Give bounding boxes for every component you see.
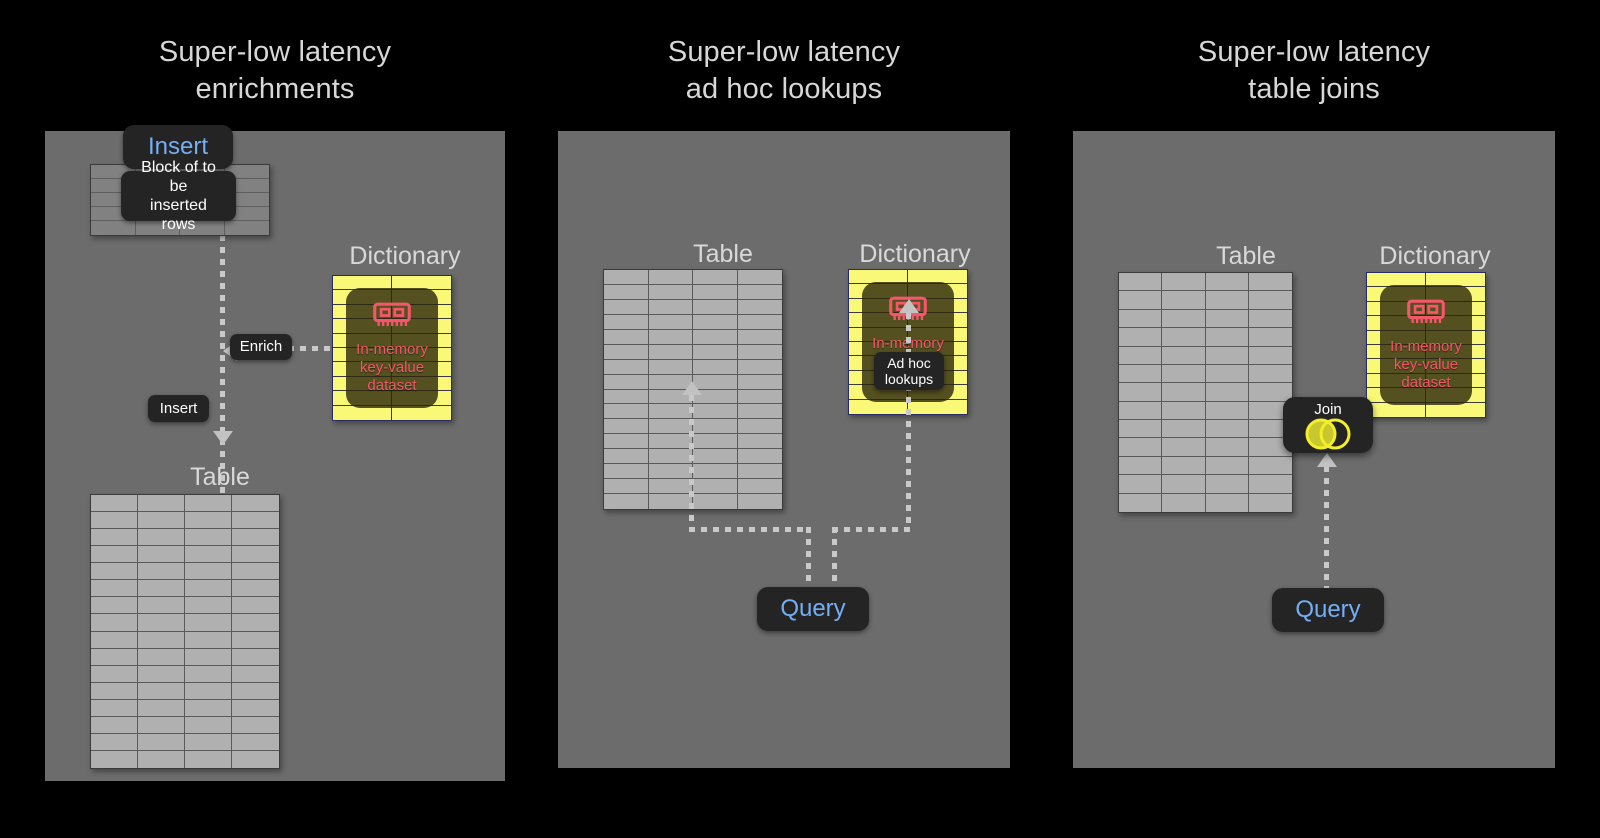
grid-cell bbox=[1119, 438, 1162, 456]
grid-cell bbox=[185, 580, 232, 597]
grid-cell bbox=[185, 495, 232, 512]
grid-cell bbox=[185, 751, 232, 768]
grid-cell bbox=[232, 512, 279, 529]
grid-cell bbox=[232, 717, 279, 734]
query-to-join-line bbox=[1324, 466, 1329, 588]
grid-cell bbox=[185, 563, 232, 580]
chip-enrich[interactable]: Enrich bbox=[230, 334, 292, 360]
grid-cell bbox=[649, 494, 694, 509]
grid-cell bbox=[225, 221, 270, 235]
query-to-dictionary-line bbox=[906, 313, 911, 527]
grid-cell bbox=[232, 580, 279, 597]
grid-cell bbox=[738, 479, 783, 494]
grid-cell bbox=[1249, 328, 1292, 346]
grid-cell bbox=[1249, 273, 1292, 291]
panel-title-enrichments: Super-low latency enrichments bbox=[45, 34, 505, 108]
diagram-canvas: Super-low latency enrichments Insert Blo… bbox=[0, 0, 1600, 838]
panel-enrichments: Insert Block of to be inserted rows Dict… bbox=[45, 131, 505, 781]
grid-cell bbox=[604, 330, 649, 345]
grid-cell bbox=[1162, 365, 1205, 383]
grid-cell bbox=[604, 449, 649, 464]
grid-cell bbox=[604, 404, 649, 419]
grid-cell bbox=[138, 495, 185, 512]
grid-cell bbox=[1249, 457, 1292, 475]
query-right-riser bbox=[832, 527, 837, 587]
grid-cell bbox=[1206, 328, 1249, 346]
grid-cell bbox=[738, 360, 783, 375]
grid-cell bbox=[1119, 273, 1162, 291]
grid-cell bbox=[738, 494, 783, 509]
grid-cell bbox=[738, 434, 783, 449]
grid-cell bbox=[693, 479, 738, 494]
grid-cell bbox=[91, 683, 138, 700]
grid-cell bbox=[91, 512, 138, 529]
grid-cell bbox=[1249, 291, 1292, 309]
grid-cell bbox=[738, 464, 783, 479]
grid-cell bbox=[138, 649, 185, 666]
grid-cell bbox=[185, 546, 232, 563]
grid-cell bbox=[185, 683, 232, 700]
grid-cell bbox=[1162, 438, 1205, 456]
ram-icon bbox=[1406, 299, 1446, 332]
grid-cell bbox=[1206, 402, 1249, 420]
grid-cell bbox=[1206, 310, 1249, 328]
grid-cell bbox=[232, 563, 279, 580]
grid-cell bbox=[1119, 347, 1162, 365]
grid-cell bbox=[1206, 420, 1249, 438]
grid-cell bbox=[604, 479, 649, 494]
grid-cell bbox=[138, 734, 185, 751]
grid-cell bbox=[1206, 291, 1249, 309]
grid-cell bbox=[1119, 310, 1162, 328]
panel-table-joins: Table Dictionary bbox=[1073, 131, 1555, 768]
grid-cell bbox=[604, 300, 649, 315]
grid-cell bbox=[185, 700, 232, 717]
grid-cell bbox=[91, 529, 138, 546]
grid-cell bbox=[738, 285, 783, 300]
grid-cell bbox=[138, 751, 185, 768]
grid-cell bbox=[232, 751, 279, 768]
grid-cell bbox=[185, 632, 232, 649]
dictionary-overlay: In-memory key-value dataset bbox=[346, 288, 438, 408]
grid-cell bbox=[91, 632, 138, 649]
caption-dictionary: Dictionary bbox=[315, 241, 495, 271]
grid-cell bbox=[1162, 420, 1205, 438]
grid-cell bbox=[693, 315, 738, 330]
grid-cell bbox=[738, 270, 783, 285]
caption-table: Table bbox=[140, 462, 300, 492]
chip-query[interactable]: Query bbox=[1272, 588, 1384, 632]
grid-cell bbox=[232, 734, 279, 751]
grid-cell bbox=[185, 512, 232, 529]
grid-cell bbox=[604, 434, 649, 449]
grid-cell bbox=[738, 449, 783, 464]
grid-cell bbox=[738, 404, 783, 419]
ram-icon bbox=[372, 302, 412, 335]
query-left-riser bbox=[806, 527, 811, 587]
grid-cell bbox=[649, 360, 694, 375]
grid-cell bbox=[232, 683, 279, 700]
chip-join[interactable]: Join bbox=[1283, 397, 1373, 453]
grid-cell bbox=[649, 300, 694, 315]
grid-cell bbox=[738, 345, 783, 360]
grid-cell bbox=[649, 285, 694, 300]
grid-cell bbox=[1162, 273, 1205, 291]
grid-cell bbox=[232, 632, 279, 649]
grid-cell bbox=[604, 464, 649, 479]
grid-cell bbox=[138, 563, 185, 580]
grid-cell bbox=[1249, 365, 1292, 383]
grid-cell bbox=[1162, 328, 1205, 346]
grid-cell bbox=[185, 614, 232, 631]
grid-cell bbox=[138, 529, 185, 546]
grid-cell bbox=[1162, 402, 1205, 420]
grid-cell bbox=[604, 360, 649, 375]
grid-cell bbox=[693, 464, 738, 479]
panel-title-ad-hoc-lookups: Super-low latency ad hoc lookups bbox=[558, 34, 1010, 108]
grid-cell bbox=[91, 597, 138, 614]
grid-cell bbox=[738, 375, 783, 390]
grid-cell bbox=[138, 666, 185, 683]
grid-cell bbox=[1206, 494, 1249, 512]
grid-cell bbox=[232, 597, 279, 614]
insert-flow-arrowhead bbox=[213, 431, 233, 445]
grid-cell bbox=[1119, 365, 1162, 383]
grid-cell bbox=[649, 464, 694, 479]
grid-cell bbox=[604, 375, 649, 390]
query-left-branch bbox=[689, 527, 811, 532]
grid-cell bbox=[1119, 475, 1162, 493]
dictionary-overlay: In-memory key-value dataset bbox=[1380, 285, 1472, 405]
grid-cell bbox=[649, 315, 694, 330]
grid-cell bbox=[649, 270, 694, 285]
grid-cell bbox=[185, 666, 232, 683]
grid-cell bbox=[693, 345, 738, 360]
grid-cell bbox=[138, 546, 185, 563]
grid-cell bbox=[693, 419, 738, 434]
grid-cell bbox=[604, 285, 649, 300]
grid-cell bbox=[232, 649, 279, 666]
grid-cell bbox=[649, 449, 694, 464]
grid-cell bbox=[1249, 383, 1292, 401]
grid-cell bbox=[1162, 475, 1205, 493]
grid-cell bbox=[138, 597, 185, 614]
query-right-branch bbox=[832, 527, 910, 532]
caption-table: Table bbox=[1131, 241, 1361, 271]
grid-cell bbox=[1206, 365, 1249, 383]
grid-cell bbox=[91, 751, 138, 768]
grid-cell bbox=[138, 700, 185, 717]
grid-cell bbox=[1162, 310, 1205, 328]
chip-ad-hoc-lookups[interactable]: Ad hoc lookups bbox=[874, 352, 944, 390]
grid-cell bbox=[91, 546, 138, 563]
grid-cell bbox=[138, 683, 185, 700]
dictionary-label: In-memory key-value dataset bbox=[1390, 338, 1462, 392]
grid-cell bbox=[91, 734, 138, 751]
query-to-table-arrowhead bbox=[682, 381, 702, 395]
grid-cell bbox=[738, 300, 783, 315]
grid-cell bbox=[693, 494, 738, 509]
grid-cell bbox=[649, 345, 694, 360]
query-to-dictionary-arrowhead bbox=[899, 299, 919, 313]
grid-cell bbox=[604, 270, 649, 285]
grid-cell bbox=[738, 419, 783, 434]
grid-cell bbox=[604, 345, 649, 360]
panel-title-table-joins: Super-low latency table joins bbox=[1073, 34, 1555, 108]
chip-block-of-rows[interactable]: Block of to be inserted rows bbox=[121, 171, 236, 221]
grid-cell bbox=[1249, 310, 1292, 328]
grid-cell bbox=[91, 221, 136, 235]
grid-cell bbox=[1162, 383, 1205, 401]
grid-cell bbox=[693, 404, 738, 419]
grid-cell bbox=[738, 330, 783, 345]
grid-cell bbox=[91, 666, 138, 683]
grid-cell bbox=[1119, 328, 1162, 346]
grid-cell bbox=[185, 734, 232, 751]
grid-cell bbox=[1119, 291, 1162, 309]
chip-query[interactable]: Query bbox=[757, 587, 869, 631]
grid-cell bbox=[1162, 291, 1205, 309]
dictionary-label: In-memory key-value dataset bbox=[356, 341, 428, 395]
grid-cell bbox=[1206, 438, 1249, 456]
grid-cell bbox=[185, 597, 232, 614]
grid-cell bbox=[185, 529, 232, 546]
grid-cell bbox=[693, 434, 738, 449]
grid-cell bbox=[693, 360, 738, 375]
grid-cell bbox=[91, 580, 138, 597]
grid-cell bbox=[1119, 402, 1162, 420]
grid-cell bbox=[1119, 494, 1162, 512]
grid-cell bbox=[693, 285, 738, 300]
grid-cell bbox=[1249, 475, 1292, 493]
grid-cell bbox=[1249, 494, 1292, 512]
chip-insert-mid[interactable]: Insert bbox=[148, 395, 209, 422]
grid-cell bbox=[1162, 457, 1205, 475]
caption-dictionary: Dictionary bbox=[1335, 241, 1535, 271]
grid-cell bbox=[1162, 494, 1205, 512]
grid-cell bbox=[604, 494, 649, 509]
grid-cell bbox=[1206, 457, 1249, 475]
grid-cell bbox=[232, 666, 279, 683]
grid-cell bbox=[649, 434, 694, 449]
grid-cell bbox=[232, 546, 279, 563]
grid-cell bbox=[138, 632, 185, 649]
caption-dictionary: Dictionary bbox=[820, 239, 1010, 269]
caption-table: Table bbox=[613, 239, 833, 269]
grid-cell bbox=[232, 614, 279, 631]
grid-cell bbox=[693, 270, 738, 285]
grid-cell bbox=[693, 449, 738, 464]
grid-cell bbox=[91, 717, 138, 734]
grid-cell bbox=[1249, 347, 1292, 365]
grid-cell bbox=[1206, 383, 1249, 401]
grid-cell bbox=[232, 495, 279, 512]
grid-cell bbox=[649, 404, 694, 419]
grid-cell bbox=[738, 315, 783, 330]
grid-cell bbox=[693, 300, 738, 315]
grid-cell bbox=[91, 649, 138, 666]
table-grid bbox=[90, 494, 280, 769]
grid-cell bbox=[738, 390, 783, 405]
grid-cell bbox=[232, 529, 279, 546]
grid-cell bbox=[138, 717, 185, 734]
grid-cell bbox=[138, 512, 185, 529]
grid-cell bbox=[604, 419, 649, 434]
venn-diagram-icon bbox=[1297, 417, 1359, 456]
grid-cell bbox=[91, 614, 138, 631]
grid-cell bbox=[91, 700, 138, 717]
grid-cell bbox=[91, 495, 138, 512]
grid-cell bbox=[604, 390, 649, 405]
grid-cell bbox=[604, 315, 649, 330]
grid-cell bbox=[138, 614, 185, 631]
grid-cell bbox=[649, 419, 694, 434]
grid-cell bbox=[1119, 457, 1162, 475]
grid-cell bbox=[1162, 347, 1205, 365]
table-grid bbox=[1118, 272, 1293, 513]
grid-cell bbox=[1206, 347, 1249, 365]
grid-cell bbox=[138, 580, 185, 597]
grid-cell bbox=[1206, 273, 1249, 291]
grid-cell bbox=[185, 717, 232, 734]
grid-cell bbox=[649, 479, 694, 494]
join-label: Join bbox=[1314, 401, 1342, 418]
panel-ad-hoc-lookups: Table Dictionary bbox=[558, 131, 1010, 768]
grid-cell bbox=[91, 563, 138, 580]
grid-cell bbox=[1119, 383, 1162, 401]
grid-cell bbox=[185, 649, 232, 666]
grid-cell bbox=[693, 330, 738, 345]
grid-cell bbox=[1206, 475, 1249, 493]
grid-cell bbox=[649, 330, 694, 345]
grid-cell bbox=[1119, 420, 1162, 438]
query-to-table-line bbox=[689, 395, 694, 527]
grid-cell bbox=[232, 700, 279, 717]
